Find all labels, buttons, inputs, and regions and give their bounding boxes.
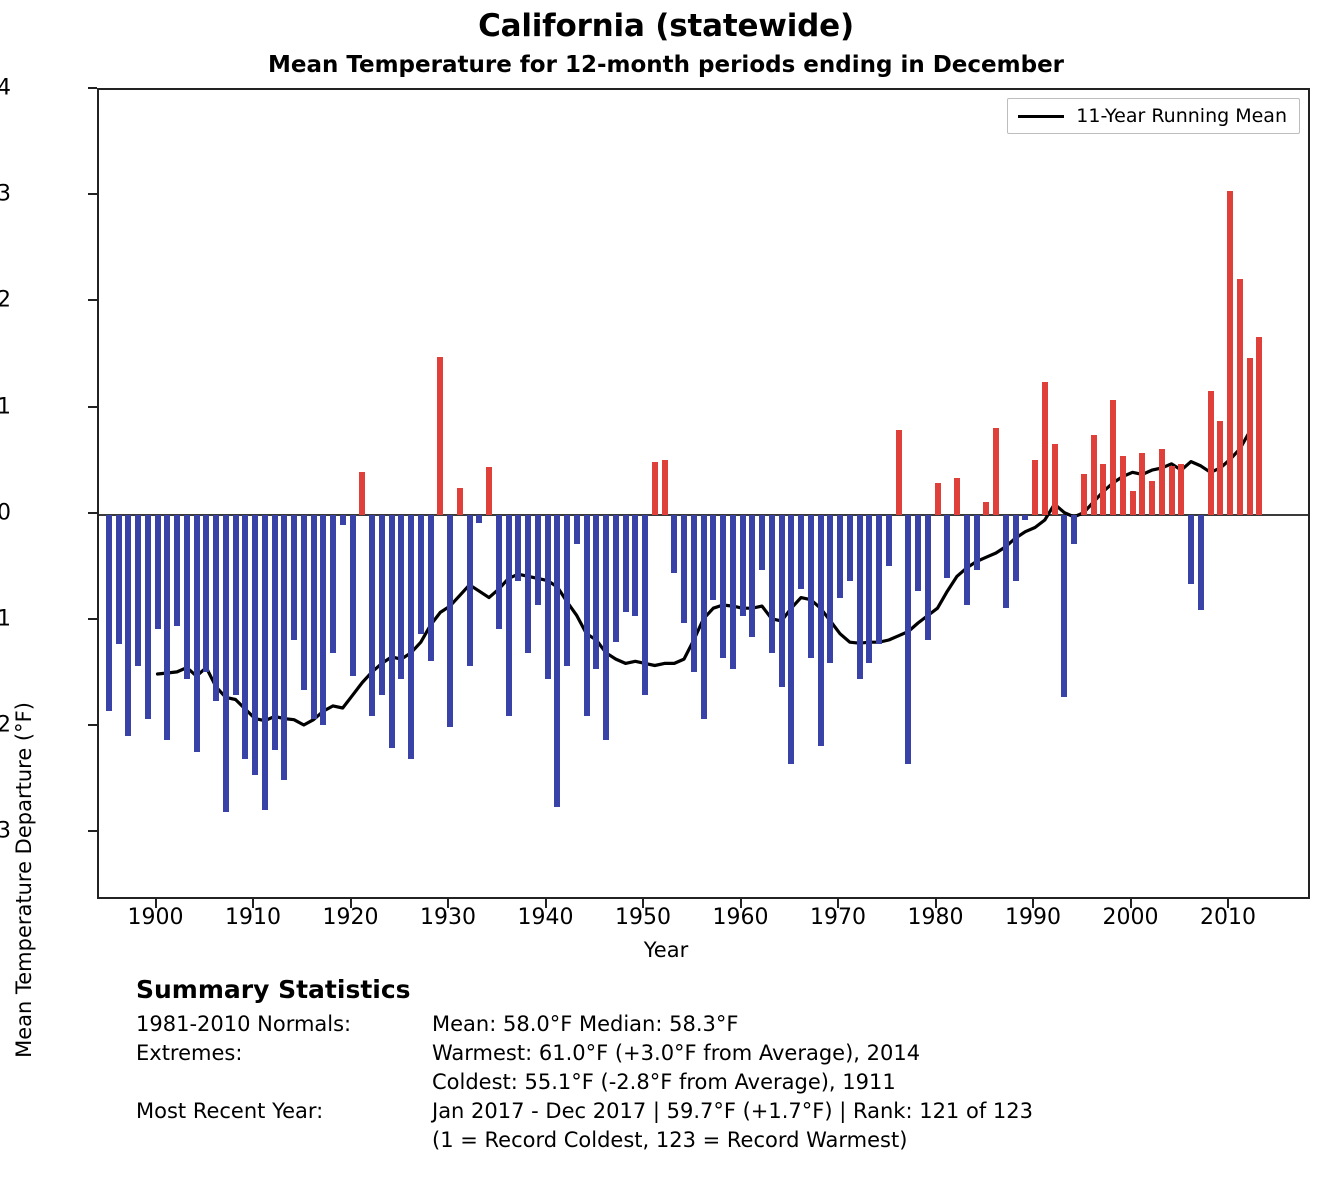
summary-row-label — [136, 1126, 432, 1155]
summary-row-value: Coldest: 55.1°F (-2.8°F from Average), 1… — [432, 1068, 1286, 1097]
bar-1946 — [603, 515, 609, 740]
bar-1903 — [184, 515, 190, 680]
bar-1914 — [291, 515, 297, 640]
bar-1966 — [798, 515, 804, 589]
x-tick-mark-1900 — [155, 899, 157, 908]
bar-1931 — [457, 488, 463, 515]
bar-1963 — [769, 515, 775, 653]
bar-1997 — [1100, 464, 1106, 515]
bar-1950 — [642, 515, 648, 696]
bar-1941 — [554, 515, 560, 807]
y-tick-label--2: −2 — [0, 713, 11, 738]
bar-1990 — [1032, 460, 1038, 515]
y-tick-label-1: 1 — [0, 394, 11, 419]
bar-1897 — [125, 515, 131, 736]
bar-1937 — [515, 515, 521, 581]
bar-1900 — [155, 515, 161, 630]
bar-1978 — [915, 515, 921, 591]
bar-1953 — [671, 515, 677, 573]
bar-1958 — [720, 515, 726, 658]
summary-row: Most Recent Year:Jan 2017 - Dec 2017 | 5… — [136, 1097, 1286, 1126]
x-tick-mark-1990 — [1032, 899, 1034, 908]
chart-legend: 11-Year Running Mean — [1007, 98, 1300, 134]
bar-1962 — [759, 515, 765, 570]
bar-1939 — [535, 515, 541, 605]
bar-1969 — [827, 515, 833, 664]
bar-1967 — [808, 515, 814, 658]
bar-1943 — [574, 515, 580, 545]
bar-1954 — [681, 515, 687, 623]
bar-1922 — [369, 515, 375, 717]
page-subtitle: Mean Temperature for 12-month periods en… — [0, 52, 1332, 78]
summary-row-value: (1 = Record Coldest, 123 = Record Warmes… — [432, 1126, 1286, 1155]
bar-1984 — [974, 515, 980, 570]
bar-1920 — [350, 515, 356, 676]
bar-1944 — [584, 515, 590, 717]
bar-1971 — [847, 515, 853, 581]
bar-1898 — [135, 515, 141, 666]
bar-2009 — [1217, 421, 1223, 514]
bar-1989 — [1022, 515, 1028, 520]
legend-label-running-mean: 11-Year Running Mean — [1076, 105, 1287, 127]
bar-1991 — [1042, 382, 1048, 515]
bar-1994 — [1071, 515, 1077, 545]
bar-1919 — [340, 515, 346, 526]
bar-1895 — [106, 515, 112, 711]
y-tick-label-3: 3 — [0, 182, 11, 207]
bar-1932 — [467, 515, 473, 666]
bar-1956 — [701, 515, 707, 719]
y-tick-label-4: 4 — [0, 76, 11, 101]
x-axis-label: Year — [0, 938, 1332, 962]
bar-1960 — [740, 515, 746, 616]
bar-1927 — [418, 515, 424, 634]
bar-1982 — [954, 478, 960, 515]
summary-row: Extremes:Warmest: 61.0°F (+3.0°F from Av… — [136, 1039, 1286, 1068]
bar-1975 — [886, 515, 892, 566]
bar-1930 — [447, 515, 453, 727]
summary-row-label: 1981-2010 Normals: — [136, 1010, 432, 1039]
summary-row-value: Mean: 58.0°F Median: 58.3°F — [432, 1010, 1286, 1039]
y-tick-mark--2 — [88, 724, 97, 726]
page-title: California (statewide) — [0, 8, 1332, 44]
bar-1996 — [1091, 435, 1097, 515]
bar-1933 — [476, 515, 482, 523]
bar-1912 — [272, 515, 278, 751]
bar-1983 — [964, 515, 970, 605]
x-tick-mark-2000 — [1130, 899, 1132, 908]
bar-1965 — [788, 515, 794, 765]
x-tick-label-2010: 2010 — [1168, 905, 1288, 930]
bar-2006 — [1188, 515, 1194, 584]
bar-1917 — [320, 515, 326, 725]
bar-1902 — [174, 515, 180, 626]
bar-1980 — [935, 483, 941, 515]
x-tick-mark-1980 — [935, 899, 937, 908]
y-tick-label-0: 0 — [0, 500, 11, 525]
bar-1959 — [730, 515, 736, 669]
summary-statistics: Summary Statistics 1981-2010 Normals:Mea… — [136, 975, 1286, 1155]
bar-1985 — [983, 502, 989, 515]
y-tick-mark--3 — [88, 830, 97, 832]
bar-1910 — [252, 515, 258, 775]
bar-2002 — [1149, 481, 1155, 515]
y-tick-mark-3 — [88, 193, 97, 195]
bar-1905 — [203, 515, 209, 672]
bar-1961 — [749, 515, 755, 637]
y-tick-label--3: −3 — [0, 819, 11, 844]
bar-1928 — [428, 515, 434, 662]
bar-1938 — [525, 515, 531, 653]
x-tick-mark-1920 — [350, 899, 352, 908]
bar-1948 — [623, 515, 629, 613]
bar-2004 — [1169, 466, 1175, 515]
bar-1949 — [632, 515, 638, 616]
bar-1955 — [691, 515, 697, 672]
summary-row: (1 = Record Coldest, 123 = Record Warmes… — [136, 1126, 1286, 1155]
chart-plot-area: 11-Year Running Mean — [97, 88, 1310, 899]
summary-row: 1981-2010 Normals:Mean: 58.0°F Median: 5… — [136, 1010, 1286, 1039]
bar-1936 — [506, 515, 512, 717]
bar-1947 — [613, 515, 619, 642]
summary-row-label: Most Recent Year: — [136, 1097, 432, 1126]
bar-1957 — [710, 515, 716, 600]
bar-1998 — [1110, 400, 1116, 515]
x-tick-mark-1940 — [545, 899, 547, 908]
running-mean-swatch — [1018, 115, 1064, 118]
summary-row-label — [136, 1068, 432, 1097]
bar-1925 — [398, 515, 404, 680]
bar-2003 — [1159, 449, 1165, 515]
bar-1993 — [1061, 515, 1067, 698]
summary-row: Coldest: 55.1°F (-2.8°F from Average), 1… — [136, 1068, 1286, 1097]
x-tick-mark-2010 — [1227, 899, 1229, 908]
y-tick-mark-1 — [88, 406, 97, 408]
bar-1988 — [1013, 515, 1019, 581]
bar-1904 — [194, 515, 200, 752]
bar-1940 — [545, 515, 551, 680]
bar-1915 — [301, 515, 307, 690]
bar-1918 — [330, 515, 336, 653]
bar-1974 — [876, 515, 882, 645]
bar-1934 — [486, 467, 492, 515]
bar-1999 — [1120, 456, 1126, 514]
bar-1906 — [213, 515, 219, 701]
bar-1901 — [164, 515, 170, 740]
x-tick-mark-1960 — [740, 899, 742, 908]
bar-1935 — [496, 515, 502, 630]
bar-1977 — [905, 515, 911, 765]
bar-1973 — [866, 515, 872, 664]
bar-1979 — [925, 515, 931, 640]
bar-1981 — [944, 515, 950, 579]
y-tick-mark-4 — [88, 87, 97, 89]
x-tick-mark-1950 — [642, 899, 644, 908]
bar-1913 — [281, 515, 287, 780]
bar-1916 — [311, 515, 317, 719]
bar-2013 — [1256, 337, 1262, 514]
x-tick-mark-1930 — [447, 899, 449, 908]
summary-row-label: Extremes: — [136, 1039, 432, 1068]
summary-row-value: Jan 2017 - Dec 2017 | 59.7°F (+1.7°F) | … — [432, 1097, 1286, 1126]
summary-heading: Summary Statistics — [136, 975, 1286, 1004]
y-tick-mark-0 — [88, 512, 97, 514]
bar-1899 — [145, 515, 151, 719]
bar-1942 — [564, 515, 570, 666]
y-axis-label: Mean Temperature Departure (°F) — [12, 680, 36, 1080]
bar-2011 — [1237, 279, 1243, 515]
chart-canvas — [99, 90, 1308, 897]
bar-1986 — [993, 428, 999, 515]
bar-1972 — [857, 515, 863, 680]
y-tick-mark-2 — [88, 299, 97, 301]
summary-rows: 1981-2010 Normals:Mean: 58.0°F Median: 5… — [136, 1010, 1286, 1155]
bar-1968 — [818, 515, 824, 746]
bar-1924 — [389, 515, 395, 749]
bar-1921 — [359, 472, 365, 514]
bar-2010 — [1227, 191, 1233, 515]
bar-1987 — [1003, 515, 1009, 608]
bar-1926 — [408, 515, 414, 759]
bar-1945 — [593, 515, 599, 669]
bar-1970 — [837, 515, 843, 598]
bar-1976 — [896, 430, 902, 515]
bar-1952 — [662, 460, 668, 515]
bar-1907 — [223, 515, 229, 812]
bar-1911 — [262, 515, 268, 810]
bar-2008 — [1208, 391, 1214, 515]
summary-row-value: Warmest: 61.0°F (+3.0°F from Average), 2… — [432, 1039, 1286, 1068]
bar-2000 — [1130, 491, 1136, 514]
bar-1923 — [379, 515, 385, 696]
bar-2005 — [1178, 464, 1184, 515]
y-tick-mark--1 — [88, 618, 97, 620]
bar-1929 — [437, 357, 443, 515]
x-tick-mark-1910 — [252, 899, 254, 908]
y-tick-label--1: −1 — [0, 606, 11, 631]
bar-1995 — [1081, 474, 1087, 514]
bar-1992 — [1052, 444, 1058, 515]
x-tick-mark-1970 — [837, 899, 839, 908]
bar-1909 — [242, 515, 248, 759]
bar-2001 — [1139, 453, 1145, 515]
bar-2012 — [1247, 358, 1253, 515]
bar-1896 — [116, 515, 122, 645]
bar-2007 — [1198, 515, 1204, 611]
bar-1951 — [652, 462, 658, 515]
bar-1908 — [233, 515, 239, 696]
y-tick-label-2: 2 — [0, 288, 11, 313]
bar-1964 — [779, 515, 785, 687]
